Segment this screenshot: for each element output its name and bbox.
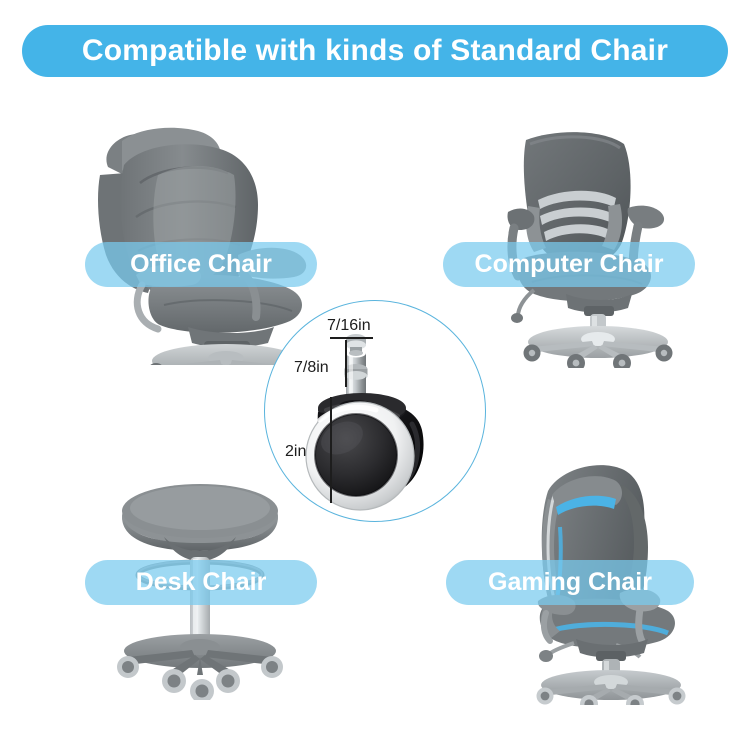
header-banner: Compatible with kinds of Standard Chair <box>22 25 728 77</box>
caster-wheel-icon <box>276 312 476 517</box>
dimension-rule-stem-diameter <box>330 337 373 339</box>
dimension-rule-stem-height <box>345 340 347 387</box>
chair-label-gaming-text: Gaming Chair <box>488 570 652 595</box>
chair-label-office-text: Office Chair <box>130 252 272 277</box>
chair-label-desk-text: Desk Chair <box>136 570 267 595</box>
dimension-label-wheel-diameter: 2in <box>285 444 306 460</box>
chair-label-gaming: Gaming Chair <box>446 560 694 605</box>
product-infographic: Compatible with kinds of Standard Chair <box>0 0 750 750</box>
caster-wheel-image <box>276 312 476 517</box>
chair-label-office: Office Chair <box>85 242 317 287</box>
dimension-label-stem-height: 7/8in <box>294 360 329 376</box>
chair-label-computer-text: Computer Chair <box>475 252 664 277</box>
page-title: Compatible with kinds of Standard Chair <box>82 36 668 66</box>
chair-label-desk: Desk Chair <box>85 560 317 605</box>
dimension-rule-wheel-diameter <box>330 397 332 503</box>
chair-label-computer: Computer Chair <box>443 242 695 287</box>
dimension-label-stem-diameter: 7/16in <box>327 318 371 334</box>
